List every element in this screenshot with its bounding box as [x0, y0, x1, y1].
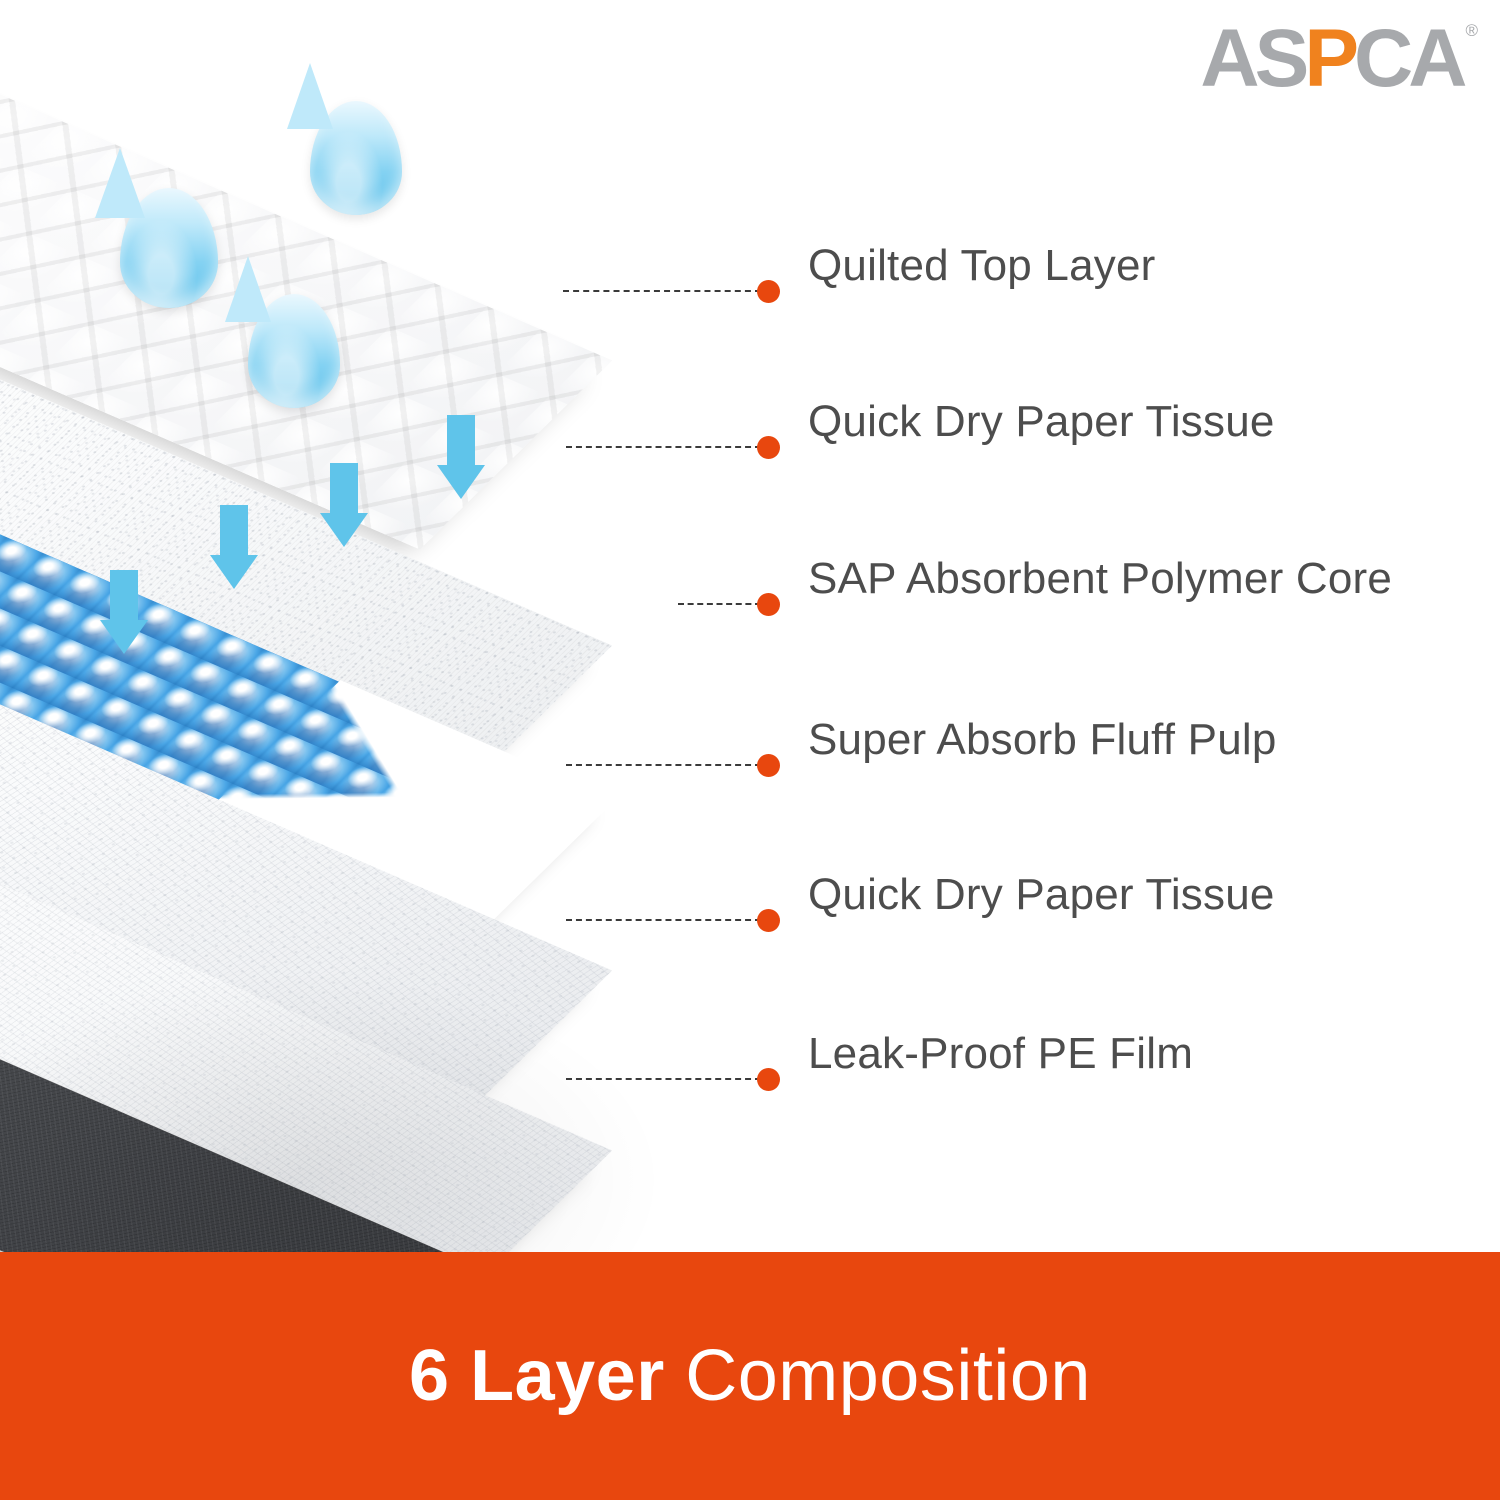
- logo-text-p: P: [1304, 18, 1354, 100]
- callout-dot: [757, 436, 780, 459]
- callout-dot: [757, 593, 780, 616]
- leader-line: [563, 290, 761, 292]
- callout-label: SAP Absorbent Polymer Core: [808, 554, 1392, 604]
- callout-dot: [757, 754, 780, 777]
- leader-line: [678, 603, 761, 605]
- leader-line: [566, 446, 761, 448]
- logo-text-ca: CA: [1354, 18, 1462, 100]
- banner-title-bold: 6 Layer: [409, 1336, 665, 1416]
- infographic-canvas: AS P CA ®: [0, 0, 1500, 1500]
- registered-trademark-icon: ®: [1465, 22, 1478, 39]
- callout-label: Quick Dry Paper Tissue: [808, 397, 1275, 447]
- callout-dot: [757, 1068, 780, 1091]
- callout-label: Super Absorb Fluff Pulp: [808, 715, 1277, 765]
- callout-dot: [757, 280, 780, 303]
- banner-title-regular: Composition: [685, 1336, 1091, 1416]
- banner-title: 6 Layer Composition: [409, 1335, 1091, 1417]
- leader-line: [566, 1078, 761, 1080]
- callout-label: Quick Dry Paper Tissue: [808, 870, 1275, 920]
- aspca-logo: AS P CA ®: [1200, 18, 1478, 100]
- callout-label: Quilted Top Layer: [808, 241, 1155, 291]
- callout-label: Leak-Proof PE Film: [808, 1029, 1193, 1079]
- bottom-banner: 6 Layer Composition: [0, 1252, 1500, 1500]
- leader-line: [566, 764, 761, 766]
- logo-text-as: AS: [1200, 18, 1304, 100]
- leader-line: [566, 919, 761, 921]
- callout-dot: [757, 909, 780, 932]
